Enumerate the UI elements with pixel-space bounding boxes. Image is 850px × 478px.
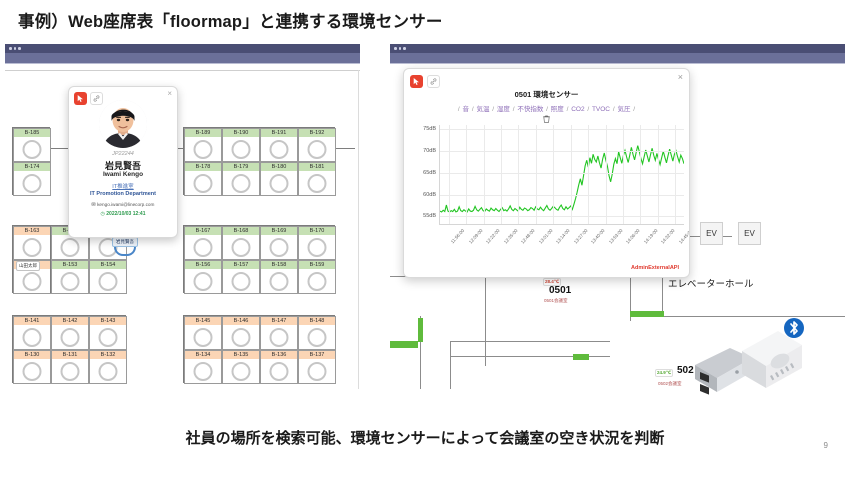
chart-x-tick-label: 13:01:00 <box>537 228 553 245</box>
map-wall <box>450 341 610 342</box>
mail-icon: ✉ <box>92 202 96 208</box>
employee-name-en: Iwami Kengo <box>69 171 177 178</box>
seat-cell[interactable]: B-156 <box>184 260 222 294</box>
floormap-window-titlebar <box>5 44 360 53</box>
page-title: 事例）Web座席表「floormap」と連携する環境センサー <box>18 8 443 32</box>
usb-dongle-image <box>690 318 810 403</box>
chart-gridline-v <box>640 125 641 224</box>
occupant-pin[interactable]: 岩見賢吾 <box>112 237 138 256</box>
occupant-pin-arc <box>114 247 136 256</box>
link-icon[interactable] <box>90 92 103 105</box>
seat-cell[interactable]: B-163 <box>13 226 51 260</box>
seat-chair-icon <box>194 238 213 257</box>
chart-x-tick-label: 13:40:00 <box>590 228 606 245</box>
seat-cell[interactable]: B-158 <box>260 260 298 294</box>
chart-x-tick-label: 14:19:00 <box>642 228 658 245</box>
seat-label: B-190 <box>223 129 259 137</box>
map-window-toolbar <box>390 53 845 64</box>
seat-chair-icon <box>308 362 327 381</box>
chart-gridline-h <box>440 216 684 217</box>
chart-x-tick-label: 12:22:00 <box>485 228 501 245</box>
seat-cell[interactable]: B-178 <box>184 162 222 196</box>
sensor-popup-toolbar <box>410 75 440 88</box>
seat-chair-icon <box>270 362 289 381</box>
seat-label: B-157 <box>223 261 259 269</box>
seat-label: B-169 <box>261 227 297 235</box>
chart-x-tick-label: 13:53:00 <box>607 228 623 245</box>
seat-cell[interactable]: B-174 <box>13 162 51 196</box>
seat-chair-icon <box>270 272 289 291</box>
seat-cell[interactable]: B-179 <box>222 162 260 196</box>
seat-cell[interactable]: B-181 <box>298 162 336 196</box>
seat-chair-icon <box>194 328 213 347</box>
chart-gridline-v <box>553 125 554 224</box>
seat-chair-icon <box>232 174 251 193</box>
seat-chair-icon <box>23 362 42 381</box>
chart-x-tick-label: 14:45:00 <box>677 228 690 245</box>
seat-label: B-153 <box>52 261 88 269</box>
seat-chair-icon <box>308 174 327 193</box>
chart-plot-area <box>439 125 684 225</box>
map-wall <box>450 341 451 389</box>
chart-gridline-v <box>675 125 676 224</box>
seat-cell[interactable]: B-141 <box>13 316 51 350</box>
room-temp-badge: 24.9℃ <box>655 369 673 377</box>
seat-chair-icon <box>232 362 251 381</box>
seat-chair-icon <box>270 174 289 193</box>
seat-group[interactable]: B-145B-146B-147B-148B-134B-135B-136B-137 <box>183 315 335 383</box>
window-dot-icon <box>394 47 397 50</box>
sensor-popup-close-button[interactable]: × <box>678 73 683 82</box>
chart-gridline-v <box>571 125 572 224</box>
floormap-wall <box>5 70 360 71</box>
seat-label: B-156 <box>185 261 221 269</box>
seat-group[interactable]: B-167B-168B-169B-170B-156B-157B-158B-159 <box>183 225 335 293</box>
delete-icon[interactable] <box>404 115 689 125</box>
seat-chair-icon <box>270 328 289 347</box>
map-sensor-marker <box>390 341 418 348</box>
tab-separator: / <box>472 106 474 113</box>
chart-x-tick-label: 14:06:00 <box>625 228 641 245</box>
slide-caption: 社員の場所を検索可能、環境センサーによって会議室の空き状況を判断 <box>0 427 850 448</box>
seat-chair-icon <box>61 238 80 257</box>
chart-gridline-v <box>658 125 659 224</box>
chart-y-tick-label: 75dB <box>423 126 436 132</box>
seat-chair-icon <box>23 328 42 347</box>
seat-label: B-185 <box>14 129 50 137</box>
seat-chair-icon <box>23 272 42 291</box>
seat-group[interactable]: B-189B-190B-191B-192B-178B-179B-180B-181 <box>183 127 335 195</box>
seat-label: B-170 <box>299 227 335 235</box>
profile-card-close-button[interactable]: × <box>167 90 172 98</box>
chart-gridline-h <box>440 173 684 174</box>
chart-gridline-v <box>623 125 624 224</box>
chart-y-tick-label: 70dB <box>423 148 436 154</box>
department-link-jp[interactable]: IT推進室 <box>69 182 177 190</box>
occupant-pin-label: 岩見賢吾 <box>112 237 138 247</box>
seat-chair-icon <box>99 272 118 291</box>
seat-cell[interactable]: B-146 <box>222 316 260 350</box>
seat-label: B-137 <box>299 351 335 359</box>
chart-gridline-v <box>588 125 589 224</box>
tab-不快指数[interactable]: 不快指数 <box>517 106 543 113</box>
seat-chair-icon <box>308 238 327 257</box>
seat-label: B-131 <box>52 351 88 359</box>
tab-separator: / <box>567 106 569 113</box>
window-dot-icon <box>18 47 21 50</box>
seat-label: B-168 <box>223 227 259 235</box>
seat-label: B-145 <box>185 317 221 325</box>
seat-cell[interactable]: B-136 <box>260 350 298 384</box>
tab-separator: / <box>546 106 548 113</box>
seat-cell[interactable]: B-145 <box>184 316 222 350</box>
chart-y-tick-label: 65dB <box>423 170 436 176</box>
tab-湿度[interactable]: 湿度 <box>497 106 510 113</box>
seat-cell[interactable]: B-134 <box>184 350 222 384</box>
chart-x-tick-label: 12:35:00 <box>502 228 518 245</box>
seat-chair-icon <box>61 272 80 291</box>
seat-chair-icon <box>99 328 118 347</box>
seat-cell[interactable]: B-153 <box>51 260 89 294</box>
seat-label: B-158 <box>261 261 297 269</box>
chart-x-tick-label: 14:32:00 <box>660 228 676 245</box>
map-sensor-marker <box>630 311 664 317</box>
seat-chair-icon <box>23 238 42 257</box>
page-number: 9 <box>824 441 828 450</box>
map-wall <box>662 316 845 317</box>
chart-y-tick-label: 55dB <box>423 213 436 219</box>
seat-label: B-163 <box>14 227 50 235</box>
map-sensor-marker <box>418 318 423 342</box>
seat-cell[interactable]: B-135 <box>222 350 260 384</box>
map-sensor-marker <box>573 354 589 360</box>
seat-cell[interactable]: B-159 <box>298 260 336 294</box>
seat-chair-icon <box>270 140 289 159</box>
seat-group[interactable]: B-141B-142B-143B-130B-131B-132 <box>12 315 126 383</box>
chart-x-axis: 11:56:0012:09:0012:22:0012:35:0012:48:00… <box>439 226 684 256</box>
seat-label: B-181 <box>299 163 335 171</box>
seat-cell[interactable]: B-132 <box>89 350 127 384</box>
seat-group[interactable]: B-185B-174 <box>12 127 50 195</box>
seat-chair-icon <box>194 272 213 291</box>
seat-cell[interactable]: B-131 <box>51 350 89 384</box>
last-seen-value: 2022/10/03 12:41 <box>106 211 145 217</box>
tab-TVOC[interactable]: TVOC <box>592 106 610 113</box>
sensor-chart-popup[interactable]: × 0501 環境センサー / 音 / 気温 / 湿度 / 不快指数 / 照度 … <box>403 68 690 278</box>
link-icon[interactable] <box>427 75 440 88</box>
chart-gridline-v <box>518 125 519 224</box>
cursor-icon[interactable] <box>410 75 423 88</box>
chart-series-line <box>440 146 684 212</box>
seat-label: B-192 <box>299 129 335 137</box>
seat-label: B-180 <box>261 163 297 171</box>
chart-x-tick-label: 12:09:00 <box>467 228 483 245</box>
clock-icon: ◷ <box>101 211 105 217</box>
chart-x-tick-label: 13:27:00 <box>572 228 588 245</box>
seat-cell[interactable]: B-190 <box>222 128 260 162</box>
chart-gridline-v <box>449 125 450 224</box>
seat-cell[interactable]: B-167 <box>184 226 222 260</box>
seat-cell[interactable]: B-170 <box>298 226 336 260</box>
seat-label: B-136 <box>261 351 297 359</box>
room-number[interactable]: 0501 <box>549 285 571 296</box>
map-window-titlebar <box>390 44 845 53</box>
occupant-name-tag[interactable]: 山田太郎 <box>16 261 40 271</box>
window-dot-icon <box>9 47 12 50</box>
sensor-metric-tabs[interactable]: / 音 / 気温 / 湿度 / 不快指数 / 照度 / CO2 / TVOC /… <box>404 103 689 113</box>
chart-x-tick-label: 11:56:00 <box>450 228 465 244</box>
seat-label: B-147 <box>261 317 297 325</box>
chart-gridline-v <box>606 125 607 224</box>
seat-label: B-146 <box>223 317 259 325</box>
window-dot-icon <box>14 47 17 50</box>
seat-chair-icon <box>99 362 118 381</box>
elevator-2[interactable]: EV <box>738 222 761 245</box>
seat-cell[interactable]: B-191 <box>260 128 298 162</box>
seat-chair-icon <box>232 328 251 347</box>
tab-separator: / <box>492 106 494 113</box>
seat-chair-icon <box>232 238 251 257</box>
seat-label: B-191 <box>261 129 297 137</box>
seat-chair-icon <box>308 328 327 347</box>
seat-cell[interactable]: B-137 <box>298 350 336 384</box>
seat-chair-icon <box>23 140 42 159</box>
tab-気温[interactable]: 気温 <box>476 106 489 113</box>
seat-label: B-167 <box>185 227 221 235</box>
seat-chair-icon <box>270 238 289 257</box>
seat-label: B-134 <box>185 351 221 359</box>
seat-label: B-148 <box>299 317 335 325</box>
room-name-label: 0502会議室 <box>657 381 683 387</box>
seat-cell[interactable]: B-168 <box>222 226 260 260</box>
last-seen-time: ◷ 2022/10/03 12:41 <box>69 211 177 217</box>
chart-gridline-v <box>466 125 467 224</box>
seat-cell[interactable]: B-180 <box>260 162 298 196</box>
floormap-window-toolbar <box>5 53 360 64</box>
window-dot-icon <box>399 47 402 50</box>
profile-card-popup[interactable]: × JP22244 岩見賢吾 Iwami Kengo IT推進室 <box>68 86 178 238</box>
seat-label: B-174 <box>14 163 50 171</box>
chart-x-tick-label: 13:14:00 <box>555 228 571 245</box>
tab-separator: / <box>587 106 589 113</box>
tab-照度[interactable]: 照度 <box>551 106 564 113</box>
seat-chair-icon <box>61 328 80 347</box>
seat-cell[interactable]: B-157 <box>222 260 260 294</box>
seat-label: B-178 <box>185 163 221 171</box>
seat-chair-icon <box>232 140 251 159</box>
floormap-wall <box>358 70 359 389</box>
seat-chair-icon <box>23 174 42 193</box>
seat-cell[interactable]: B-185 <box>13 128 51 162</box>
sensor-chart: 55dB60dB65dB70dB75dB 11:56:0012:09:0012:… <box>412 125 684 243</box>
chart-gridline-h <box>440 195 684 196</box>
window-dot-icon <box>403 47 406 50</box>
tab-気圧[interactable]: 気圧 <box>617 106 630 113</box>
seat-label: B-135 <box>223 351 259 359</box>
employee-email[interactable]: ✉ kengo.iwami@linecorp.com <box>69 202 177 208</box>
seat-label: B-154 <box>90 261 126 269</box>
tab-separator: / <box>633 106 635 113</box>
sensor-popup-footer: AdminExternalAPI <box>631 265 679 271</box>
tab-separator: / <box>513 106 515 113</box>
seat-chair-icon <box>308 272 327 291</box>
seat-cell[interactable]: B-148 <box>298 316 336 350</box>
elevator-hall-label: エレベーターホール <box>668 276 754 290</box>
chart-gridline-v <box>536 125 537 224</box>
seat-cell[interactable]: B-189 <box>184 128 222 162</box>
seat-chair-icon <box>308 140 327 159</box>
seat-chair-icon <box>232 272 251 291</box>
chart-gridline-h <box>440 151 684 152</box>
tab-音[interactable]: 音 <box>463 106 470 113</box>
seat-cell[interactable]: B-130 <box>13 350 51 384</box>
seat-cell[interactable]: B-142 <box>51 316 89 350</box>
profile-card-toolbar <box>74 92 103 105</box>
seat-label: B-143 <box>90 317 126 325</box>
seat-cell[interactable]: B-154 <box>89 260 127 294</box>
seat-label: B-179 <box>223 163 259 171</box>
seat-label: B-132 <box>90 351 126 359</box>
chart-gridline-v <box>501 125 502 224</box>
seat-label: B-159 <box>299 261 335 269</box>
elevator-1[interactable]: EV <box>700 222 723 245</box>
employee-id: JP22244 <box>69 151 177 157</box>
seat-chair-icon <box>194 362 213 381</box>
avatar <box>99 100 147 148</box>
seat-chair-icon <box>194 140 213 159</box>
seat-cell[interactable]: B-147 <box>260 316 298 350</box>
bluetooth-icon <box>784 318 804 338</box>
tab-separator: / <box>613 106 615 113</box>
seat-chair-icon <box>194 174 213 193</box>
chart-gridline-h <box>440 129 684 130</box>
sensor-popup-title: 0501 環境センサー <box>404 89 689 100</box>
tab-separator: / <box>458 106 460 113</box>
department-name-en: IT Promotion Department <box>69 191 177 197</box>
chart-x-tick-label: 12:48:00 <box>520 228 536 245</box>
seat-label: B-189 <box>185 129 221 137</box>
seat-chair-icon <box>61 362 80 381</box>
cursor-icon[interactable] <box>74 92 87 105</box>
chart-line-series <box>440 125 684 224</box>
chart-y-axis: 55dB60dB65dB70dB75dB <box>412 125 438 225</box>
room-name-label: 0501会議室 <box>543 298 569 304</box>
chart-gridline-v <box>484 125 485 224</box>
seat-label: B-130 <box>14 351 50 359</box>
employee-email-text: kengo.iwami@linecorp.com <box>97 202 154 207</box>
tab-CO2[interactable]: CO2 <box>571 106 584 113</box>
seat-label: B-142 <box>52 317 88 325</box>
seat-cell[interactable]: B-143 <box>89 316 127 350</box>
seat-cell[interactable]: B-169 <box>260 226 298 260</box>
seat-cell[interactable]: B-192 <box>298 128 336 162</box>
seat-group[interactable]: B-163B-152 <box>12 225 50 293</box>
chart-y-tick-label: 60dB <box>423 192 436 198</box>
seat-label: B-141 <box>14 317 50 325</box>
